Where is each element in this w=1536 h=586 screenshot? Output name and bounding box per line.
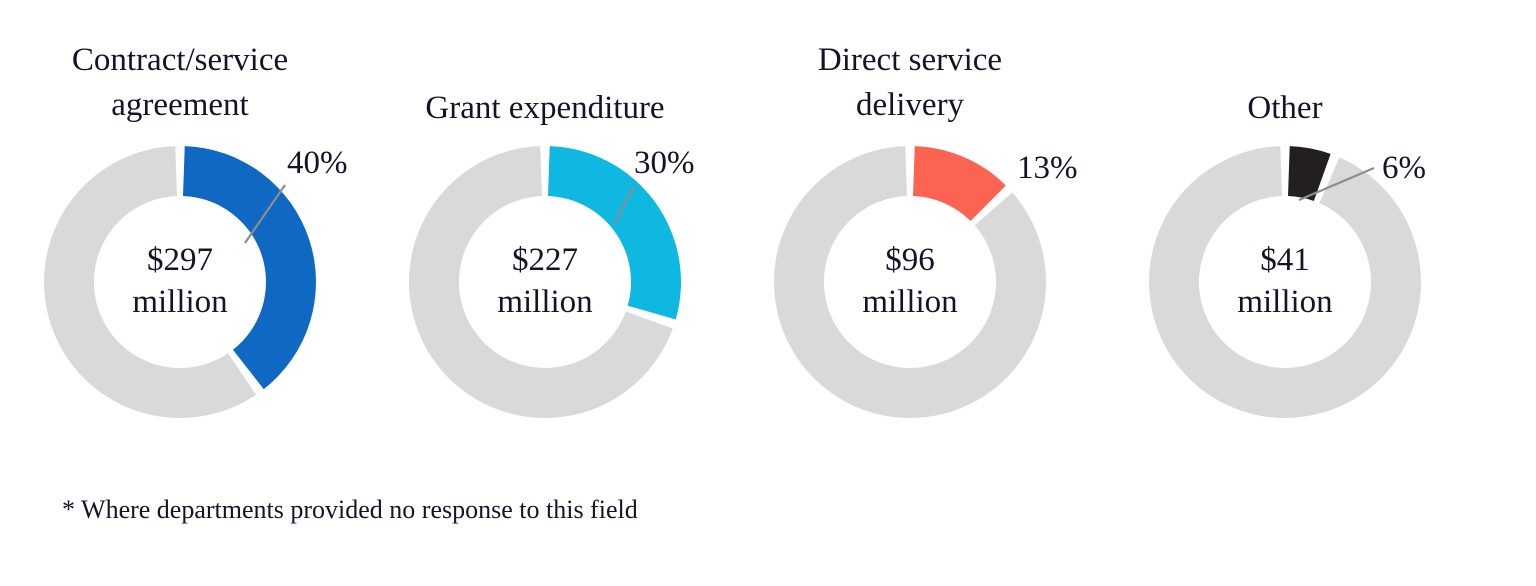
donut-segment-remainder [1149,146,1421,418]
donut-graphic-grant-expenditure: 30%$227million [362,0,728,470]
donut-percent-label: 30% [634,145,695,181]
donut-center-amount: $227 [512,242,578,278]
donut-panel-grant-expenditure: Grant expenditure 30%$227million [362,0,728,470]
donut-graphic-contract-service-agreement: 40%$297million [0,0,363,470]
donut-center-amount: $96 [885,242,935,278]
donut-center-unit: million [132,284,227,320]
donut-graphic-other: 6%$41million [1102,0,1468,470]
donut-panel-contract-service-agreement: Contract/service agreement 40%$297millio… [0,0,363,470]
donut-graphic-direct-service-delivery: 13%$96million [727,0,1093,470]
donut-segment-value [913,146,1006,221]
donut-segment-remainder [774,146,1046,418]
donut-panel-other: Other 6%$41million [1102,0,1468,470]
donut-center-unit: million [497,284,592,320]
donut-percent-label: 13% [1017,150,1078,186]
donut-center-unit: million [1237,284,1332,320]
donut-center-amount: $297 [147,242,213,278]
donut-panel-direct-service-delivery: Direct service delivery 13%$96million [727,0,1093,470]
donut-percent-label: 40% [287,145,348,181]
donut-chart-group: Contract/service agreement 40%$297millio… [0,0,1536,586]
donut-center-unit: million [862,284,957,320]
donut-center-amount: $41 [1260,242,1310,278]
footnote-text: * Where departments provided no response… [62,495,638,525]
donut-percent-label: 6% [1382,150,1426,186]
